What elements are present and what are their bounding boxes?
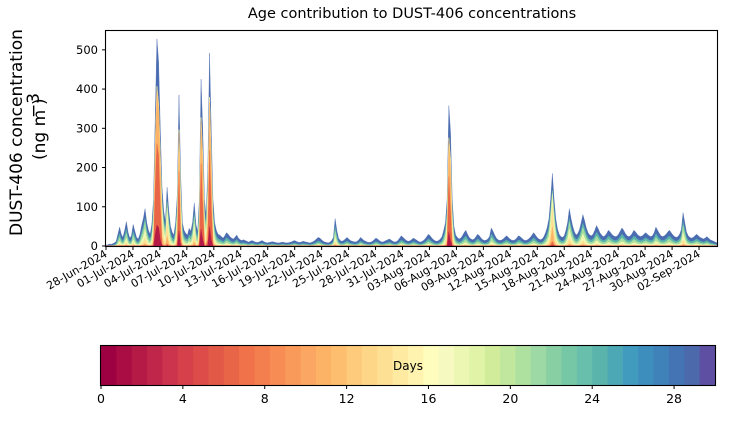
- colorbar-band: [147, 346, 163, 385]
- colorbar-band: [684, 346, 700, 385]
- colorbar-band: [485, 346, 501, 385]
- colorbar-band: [500, 346, 516, 385]
- colorbar-band: [193, 346, 209, 385]
- colorbar-band: [178, 346, 194, 385]
- colorbar-tick-label: 24: [584, 391, 600, 406]
- colorbar-band: [316, 346, 332, 385]
- colorbar-band: [270, 346, 286, 385]
- colorbar-band: [347, 346, 363, 385]
- colorbar-band: [638, 346, 654, 385]
- y-tick-label: 100: [76, 200, 98, 214]
- colorbar-tick-label: 0: [97, 391, 105, 406]
- colorbar-band: [562, 346, 578, 385]
- colorbar-band: [331, 346, 347, 385]
- y-axis-title-close-paren: ): [30, 98, 50, 105]
- colorbar-band: [454, 346, 470, 385]
- colorbar-band: [101, 346, 117, 385]
- colorbar-band: [362, 346, 378, 385]
- colorbar-band: [577, 346, 593, 385]
- colorbar-tick-label: 8: [261, 391, 269, 406]
- colorbar-tick-label: 28: [666, 391, 682, 406]
- colorbar-band: [608, 346, 624, 385]
- colorbar-band: [654, 346, 670, 385]
- colorbar-band: [592, 346, 608, 385]
- colorbar-band: [515, 346, 531, 385]
- colorbar-tick-label: 16: [421, 391, 437, 406]
- colorbar-band: [377, 346, 393, 385]
- y-tick-label: 300: [76, 121, 98, 135]
- colorbar-band: [531, 346, 547, 385]
- colorbar-band: [623, 346, 639, 385]
- y-tick-label: 400: [76, 82, 98, 96]
- colorbar-band: [439, 346, 455, 385]
- colorbar-band: [162, 346, 178, 385]
- colorbar-band: [423, 346, 439, 385]
- colorbar-tick-label: 20: [502, 391, 518, 406]
- colorbar-tick-label: 4: [179, 391, 187, 406]
- colorbar-label: Days: [393, 359, 423, 373]
- y-axis-title-line1: DUST-406 concentration: [7, 29, 27, 236]
- colorbar-band: [224, 346, 240, 385]
- colorbar-band: [700, 346, 716, 385]
- colorbar-band: [469, 346, 485, 385]
- colorbar-band: [239, 346, 255, 385]
- colorbar-band: [255, 346, 271, 385]
- colorbar-band: [669, 346, 685, 385]
- page-title: Age contribution to DUST-406 concentrati…: [248, 6, 576, 22]
- colorbar-tick-label: 12: [339, 391, 355, 406]
- colorbar-band: [285, 346, 301, 385]
- figure-canvas: Age contribution to DUST-406 concentrati…: [0, 0, 730, 425]
- y-tick-label: 200: [76, 161, 98, 175]
- colorbar-band: [546, 346, 562, 385]
- colorbar-band: [132, 346, 148, 385]
- colorbar-band: [301, 346, 317, 385]
- colorbar-band: [208, 346, 224, 385]
- y-tick-label: 500: [76, 43, 98, 57]
- colorbar-band: [116, 346, 132, 385]
